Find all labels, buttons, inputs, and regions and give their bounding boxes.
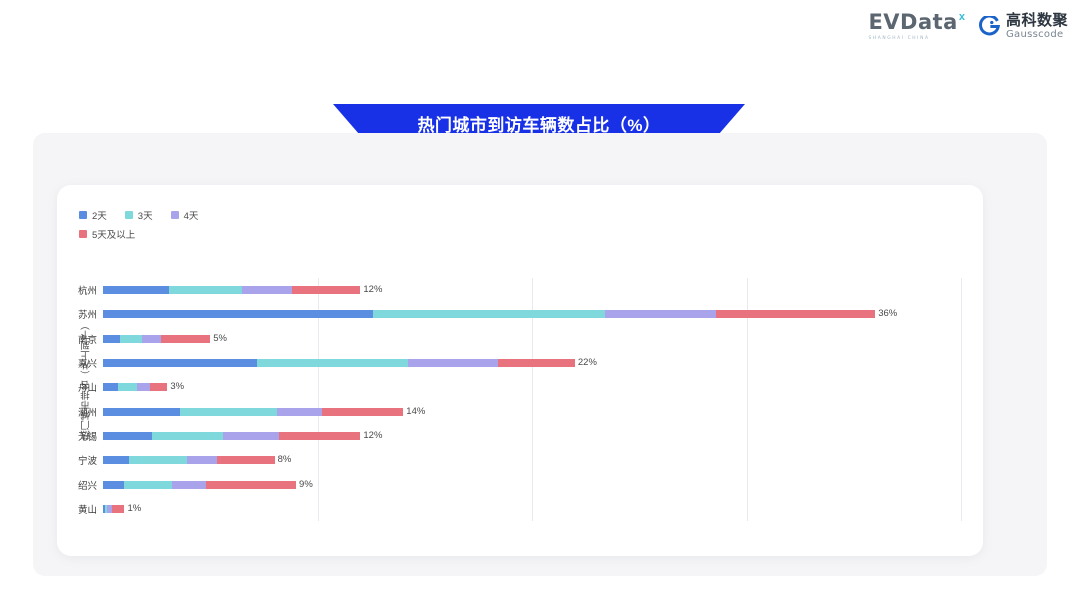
bar-segment-5天及以上[interactable] — [217, 456, 275, 464]
bar-row[interactable]: 嘉兴22% — [103, 351, 961, 375]
category-label-绍兴: 绍兴 — [78, 478, 97, 492]
bar-segment-5天及以上[interactable] — [322, 408, 404, 416]
bar-segment-4天[interactable] — [242, 286, 291, 294]
bar-value-label: 9% — [299, 481, 313, 489]
bar-segment-4天[interactable] — [277, 408, 322, 416]
bar-value-label: 3% — [170, 383, 184, 391]
bar-row[interactable]: 无锡12% — [103, 424, 961, 448]
bar-segment-5天及以上[interactable] — [716, 310, 875, 318]
stacked-bar-chart: 热门城市排名（从上到下） 杭州12%苏州36%南京5%嘉兴22%舟山3%湖州14… — [57, 185, 983, 556]
bar-segment-3天[interactable] — [180, 408, 277, 416]
gausscode-mark-icon — [979, 16, 1000, 37]
bar-row[interactable]: 苏州36% — [103, 302, 961, 326]
bar-row[interactable]: 湖州14% — [103, 400, 961, 424]
evdata-logo: EVData x SHANGHAI CHINA — [868, 12, 965, 41]
bar-segment-4天[interactable] — [223, 432, 279, 440]
bar-value-label: 36% — [878, 310, 897, 318]
bar-segment-3天[interactable] — [169, 286, 242, 294]
bar-row[interactable]: 黄山1% — [103, 497, 961, 521]
bar-segment-5天及以上[interactable] — [112, 505, 125, 513]
bar-row[interactable]: 绍兴9% — [103, 472, 961, 496]
bar-segment-3天[interactable] — [118, 383, 137, 391]
gausscode-logo: 高科数聚 Gausscode — [979, 13, 1068, 40]
bar-segment-2天[interactable] — [103, 310, 373, 318]
bar-row[interactable]: 南京5% — [103, 327, 961, 351]
bar-segment-5天及以上[interactable] — [292, 286, 361, 294]
bar-segment-2天[interactable] — [103, 335, 120, 343]
bar-segment-2天[interactable] — [103, 408, 180, 416]
chart-card: 2天3天4天5天及以上 热门城市排名（从上到下） 杭州12%苏州36%南京5%嘉… — [57, 185, 983, 556]
gausscode-cn-name: 高科数聚 — [1006, 13, 1068, 28]
evdata-name: EVData — [868, 12, 957, 33]
plot-area: 杭州12%苏州36%南京5%嘉兴22%舟山3%湖州14%无锡12%宁波8%绍兴9… — [103, 278, 961, 521]
bar-segment-4天[interactable] — [408, 359, 498, 367]
stacked-bar[interactable] — [103, 505, 124, 513]
category-label-苏州: 苏州 — [78, 307, 97, 321]
category-label-宁波: 宁波 — [78, 453, 97, 467]
bar-segment-2天[interactable] — [103, 432, 152, 440]
page-title: 热门城市到访车辆数占比（%） — [417, 111, 660, 136]
bar-rows: 杭州12%苏州36%南京5%嘉兴22%舟山3%湖州14%无锡12%宁波8%绍兴9… — [103, 278, 961, 521]
logo-bar: EVData x SHANGHAI CHINA 高科数聚 Gausscode — [868, 12, 1068, 41]
bar-value-label: 8% — [278, 456, 292, 464]
bar-segment-2天[interactable] — [103, 456, 129, 464]
bar-row[interactable]: 舟山3% — [103, 375, 961, 399]
bar-value-label: 1% — [127, 505, 141, 513]
bar-row[interactable]: 宁波8% — [103, 448, 961, 472]
bar-segment-3天[interactable] — [120, 335, 141, 343]
bar-segment-5天及以上[interactable] — [206, 481, 296, 489]
bar-segment-4天[interactable] — [172, 481, 206, 489]
bar-value-label: 14% — [406, 408, 425, 416]
bar-segment-3天[interactable] — [257, 359, 407, 367]
bar-segment-3天[interactable] — [124, 481, 171, 489]
category-label-湖州: 湖州 — [78, 405, 97, 419]
stacked-bar[interactable] — [103, 335, 210, 343]
evdata-wordmark: EVData x — [868, 12, 965, 33]
bar-value-label: 22% — [578, 359, 597, 367]
bar-segment-2天[interactable] — [103, 383, 118, 391]
category-label-舟山: 舟山 — [78, 380, 97, 394]
stacked-bar[interactable] — [103, 383, 167, 391]
evdata-subtitle: SHANGHAI CHINA — [868, 36, 929, 41]
stacked-bar[interactable] — [103, 310, 875, 318]
bar-segment-2天[interactable] — [103, 286, 169, 294]
bar-value-label: 12% — [363, 432, 382, 440]
bar-value-label: 5% — [213, 335, 227, 343]
bar-segment-3天[interactable] — [129, 456, 187, 464]
stacked-bar[interactable] — [103, 286, 360, 294]
stacked-bar[interactable] — [103, 408, 403, 416]
bar-segment-2天[interactable] — [103, 359, 257, 367]
category-label-杭州: 杭州 — [78, 283, 97, 297]
gausscode-en-name: Gausscode — [1006, 30, 1068, 40]
bar-segment-5天及以上[interactable] — [279, 432, 361, 440]
bar-segment-4天[interactable] — [142, 335, 161, 343]
stacked-bar[interactable] — [103, 456, 275, 464]
bar-segment-5天及以上[interactable] — [161, 335, 210, 343]
stacked-bar[interactable] — [103, 481, 296, 489]
bar-segment-4天[interactable] — [137, 383, 150, 391]
bar-segment-3天[interactable] — [373, 310, 605, 318]
category-label-无锡: 无锡 — [78, 429, 97, 443]
bar-segment-5天及以上[interactable] — [150, 383, 167, 391]
stacked-bar[interactable] — [103, 432, 360, 440]
category-label-南京: 南京 — [78, 332, 97, 346]
evdata-superscript-icon: x — [959, 11, 965, 23]
bar-segment-3天[interactable] — [152, 432, 223, 440]
category-label-黄山: 黄山 — [78, 502, 97, 516]
stacked-bar[interactable] — [103, 359, 575, 367]
category-label-嘉兴: 嘉兴 — [78, 356, 97, 370]
bar-segment-5天及以上[interactable] — [498, 359, 575, 367]
bar-segment-2天[interactable] — [103, 481, 124, 489]
gausscode-wordmark: 高科数聚 Gausscode — [1006, 13, 1068, 40]
gridline — [961, 278, 962, 521]
bar-row[interactable]: 杭州12% — [103, 278, 961, 302]
bar-segment-4天[interactable] — [187, 456, 217, 464]
bar-segment-4天[interactable] — [605, 310, 717, 318]
bar-value-label: 12% — [363, 286, 382, 294]
